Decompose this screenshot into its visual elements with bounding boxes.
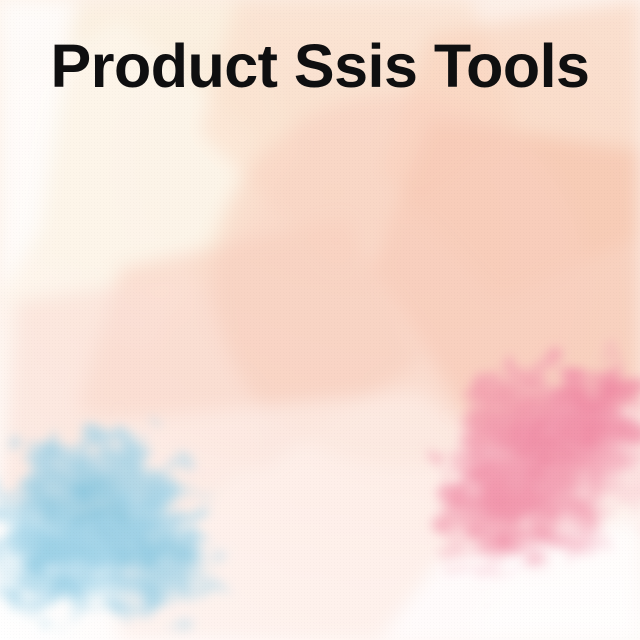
page-title: Product Ssis Tools — [51, 34, 590, 98]
poster-canvas: Product Ssis Tools — [0, 0, 640, 640]
title-container: Product Ssis Tools — [0, 34, 640, 98]
